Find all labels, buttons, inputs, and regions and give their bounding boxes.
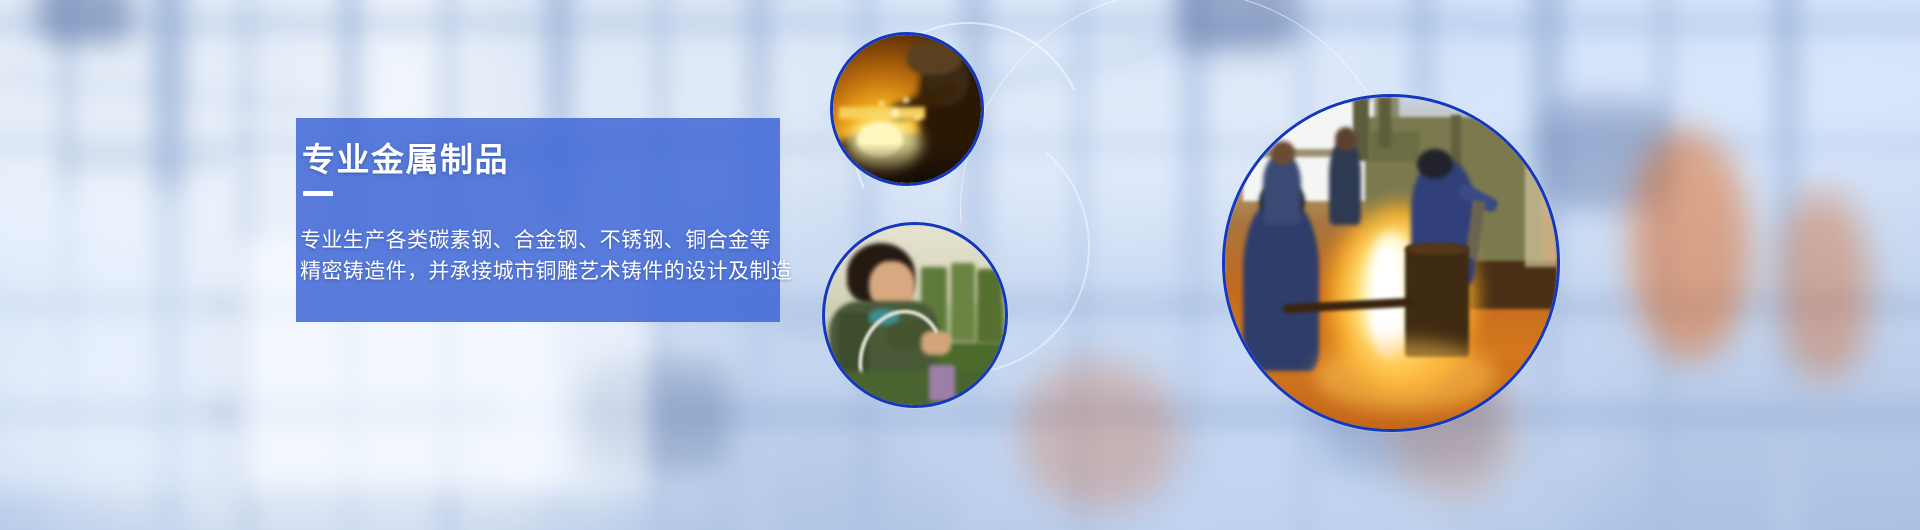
description-line-1: 专业生产各类碳素钢、合金钢、不锈钢、铜合金等 (300, 225, 792, 256)
title-divider (303, 191, 333, 196)
panel-description: 专业生产各类碳素钢、合金钢、不锈钢、铜合金等 精密铸造件，并承接城市铜雕艺术铸件… (300, 225, 792, 287)
page-title: 专业金属制品 (302, 133, 509, 181)
hero-banner: 专业金属制品 专业生产各类碳素钢、合金钢、不锈钢、铜合金等 精密铸造件，并承接城… (0, 0, 1920, 530)
description-line-2: 精密铸造件，并承接城市铜雕艺术铸件的设计及制造 (300, 256, 792, 287)
foundry-photo (1222, 94, 1560, 432)
assembly-photo (822, 222, 1008, 408)
welding-photo (830, 32, 984, 186)
